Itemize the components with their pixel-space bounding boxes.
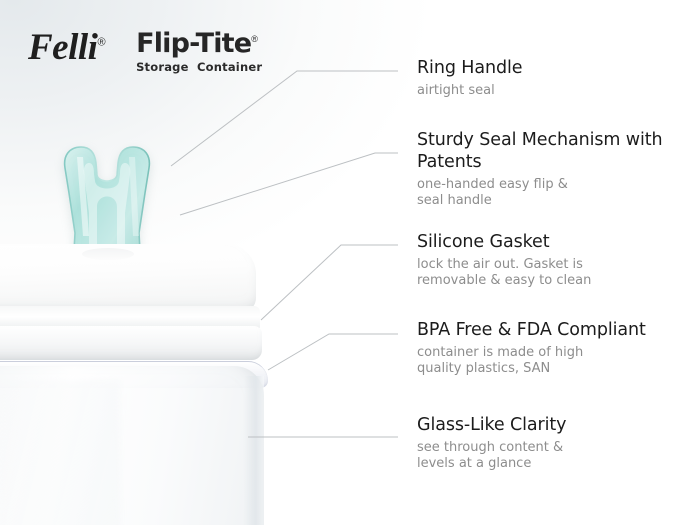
callout-subtitle: one-handed easy flip & seal handle [417,177,679,209]
leader-line-4 [268,334,398,370]
callout-bpa-free: BPA Free & FDA Compliant container is ma… [417,319,646,377]
callout-title: Silicone Gasket [417,231,591,253]
leader-line-2 [180,153,398,215]
callout-title: Sturdy Seal Mechanism with Patents [417,129,679,173]
callout-ring-handle: Ring Handle airtight seal [417,57,522,99]
callout-subtitle: container is made of high quality plasti… [417,345,646,377]
callout-silicone-gasket: Silicone Gasket lock the air out. Gasket… [417,231,591,289]
callout-subtitle: lock the air out. Gasket is removable & … [417,257,591,289]
callout-seal-mechanism: Sturdy Seal Mechanism with Patents one-h… [417,129,679,209]
callout-subtitle: airtight seal [417,83,522,99]
callout-title: Ring Handle [417,57,522,79]
callout-subtitle: see through content & levels at a glance [417,440,566,472]
callout-title: Glass-Like Clarity [417,414,566,436]
product-infographic: Felli® Flip-Tite® Storage Container [0,0,679,525]
callout-glass-clarity: Glass-Like Clarity see through content &… [417,414,566,472]
leader-line-3 [261,245,398,320]
callout-title: BPA Free & FDA Compliant [417,319,646,341]
leader-line-1 [171,71,398,166]
